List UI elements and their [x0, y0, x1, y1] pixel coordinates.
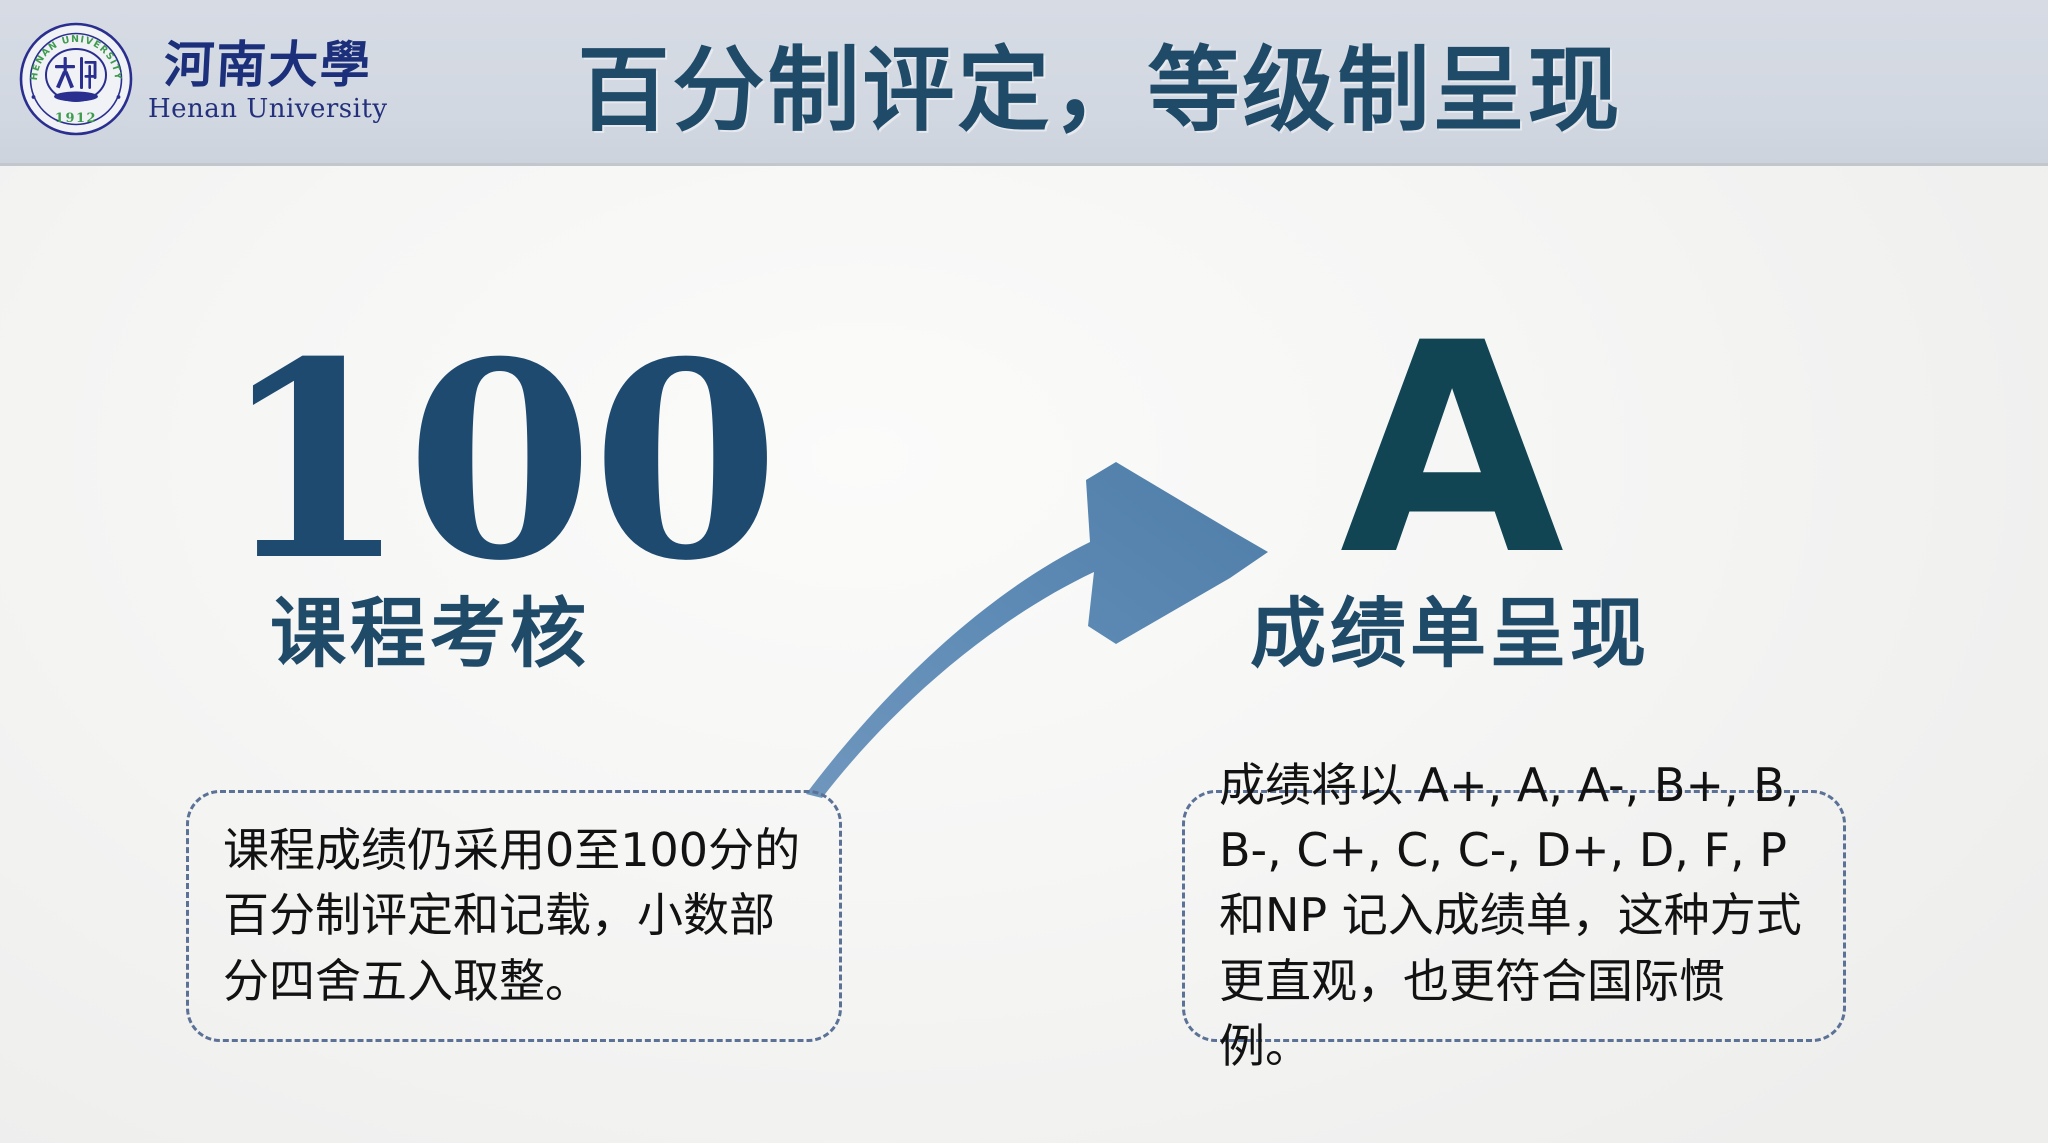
target-grade-value: A — [1250, 306, 1650, 596]
source-score-caption: 课程考核 — [200, 596, 660, 672]
slide-title: 百分制评定，等级制呈现 — [390, 16, 1810, 148]
seal-year-label: 1912 — [55, 111, 97, 126]
target-grade-caption: 成绩单呈现 — [1200, 596, 1700, 672]
slide-canvas: HENAN UNIVERSITY 1912 — [0, 0, 2048, 1143]
university-seal-icon: HENAN UNIVERSITY 1912 — [18, 21, 134, 137]
note-right-text: 成绩将以 A+, A, A-, B+, B, B-, C+, C, C-, D+… — [1219, 753, 1809, 1080]
source-score-value: 100 — [220, 326, 640, 596]
note-box-score-rule: 课程成绩仍采用0至100分的百分制评定和记载，小数部分四舍五入取整。 — [186, 790, 842, 1042]
note-box-grade-rule: 成绩将以 A+, A, A-, B+, B, B-, C+, C, C-, D+… — [1182, 790, 1846, 1042]
wordmark-chinese: 河南大學 — [162, 40, 373, 90]
university-wordmark: 河南大學 Henan University — [148, 36, 388, 122]
university-logo: HENAN UNIVERSITY 1912 — [18, 14, 368, 144]
curved-right-arrow-icon — [760, 266, 1320, 826]
slide-body: 100 课程考核 A 成绩单呈现 课程成绩仍采用0至100分的百分制评定和记载，… — [0, 166, 2048, 1143]
note-left-text: 课程成绩仍采用0至100分的百分制评定和记载，小数部分四舍五入取整。 — [223, 818, 805, 1014]
wordmark-english: Henan University — [148, 96, 388, 122]
